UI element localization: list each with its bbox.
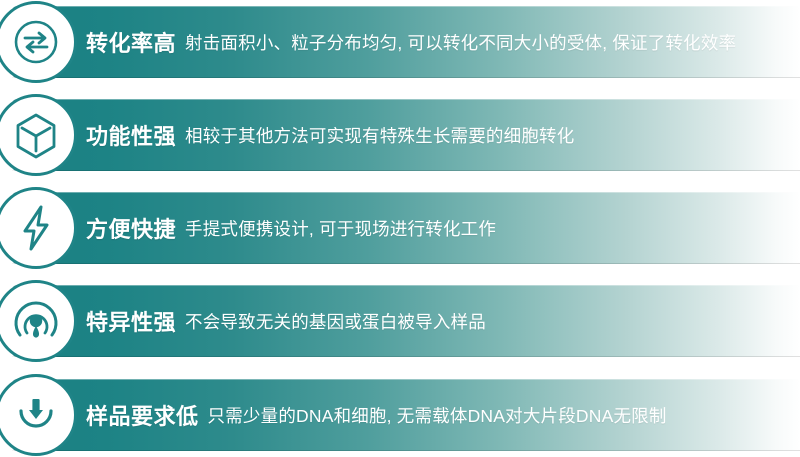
feature-row: 功能性强 相较于其他方法可实现有特殊生长需要的细胞转化 xyxy=(0,99,800,171)
feature-text: 特异性强 不会导致无关的基因或蛋白被导入样品 xyxy=(86,285,800,357)
feature-row: 特异性强 不会导致无关的基因或蛋白被导入样品 xyxy=(0,285,800,357)
feature-title: 样品要求低 xyxy=(86,399,199,431)
feature-text: 方便快捷 手提式便携设计, 可于现场进行转化工作 xyxy=(86,192,800,264)
feature-description: 射击面积小、粒子分布均匀, 可以转化不同大小的受体, 保证了转化效率 xyxy=(185,30,736,55)
feature-text: 转化率高 射击面积小、粒子分布均匀, 可以转化不同大小的受体, 保证了转化效率 xyxy=(86,6,800,78)
feature-text: 样品要求低 只需少量的DNA和细胞, 无需载体DNA对大片段DNA无限制 xyxy=(86,379,800,451)
feature-description: 相较于其他方法可实现有特殊生长需要的细胞转化 xyxy=(185,123,574,148)
feature-title: 方便快捷 xyxy=(86,212,176,244)
feature-row: 样品要求低 只需少量的DNA和细胞, 无需载体DNA对大片段DNA无限制 xyxy=(0,379,800,451)
feature-row: 转化率高 射击面积小、粒子分布均匀, 可以转化不同大小的受体, 保证了转化效率 xyxy=(0,6,800,78)
feature-description: 只需少量的DNA和细胞, 无需载体DNA对大片段DNA无限制 xyxy=(208,403,667,428)
feature-text: 功能性强 相较于其他方法可实现有特殊生长需要的细胞转化 xyxy=(86,99,800,171)
feature-row: 方便快捷 手提式便携设计, 可于现场进行转化工作 xyxy=(0,192,800,264)
feature-description: 不会导致无关的基因或蛋白被导入样品 xyxy=(185,309,486,334)
feature-title: 功能性强 xyxy=(86,119,176,151)
feature-description: 手提式便携设计, 可于现场进行转化工作 xyxy=(185,216,496,241)
feature-title: 特异性强 xyxy=(86,305,176,337)
feature-list: 转化率高 射击面积小、粒子分布均匀, 可以转化不同大小的受体, 保证了转化效率 … xyxy=(0,0,800,457)
feature-title: 转化率高 xyxy=(86,26,176,58)
